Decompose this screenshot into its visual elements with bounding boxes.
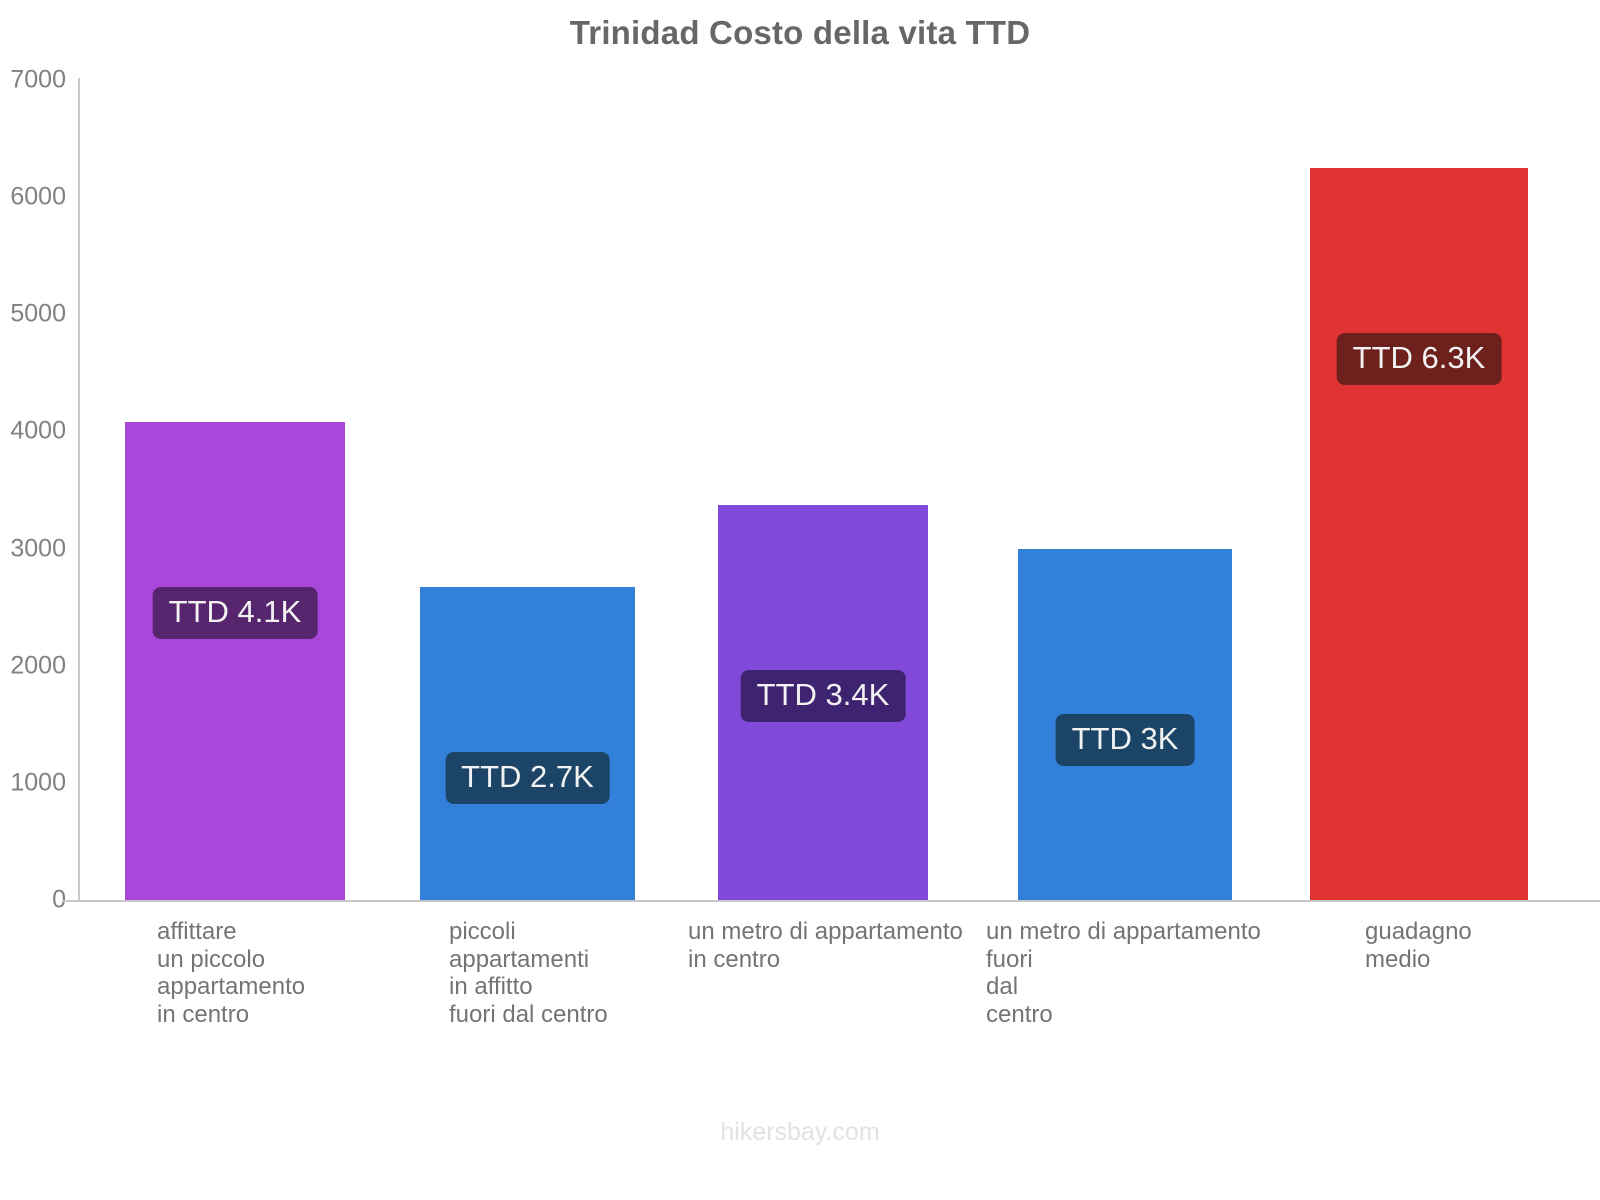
x-axis-line: [62, 900, 1600, 902]
x-axis-category-label: piccoli appartamenti in affitto fuori da…: [449, 918, 608, 1028]
bar-value-label: TTD 3K: [1056, 714, 1195, 766]
y-tick-label: 3000: [4, 534, 66, 563]
y-tick-label: 2000: [4, 651, 66, 680]
y-tick-label: 4000: [4, 417, 66, 446]
y-tick-label: 0: [4, 886, 66, 915]
y-tick-label: 1000: [4, 768, 66, 797]
bar-value-label: TTD 4.1K: [153, 587, 318, 639]
x-axis-category-label: affittare un piccolo appartamento in cen…: [157, 918, 305, 1028]
y-tick-label: 7000: [4, 66, 66, 95]
cost-of-living-bar-chart: Trinidad Costo della vita TTD 0100020003…: [0, 0, 1600, 1200]
bar-value-label: TTD 2.7K: [445, 752, 610, 804]
bar[interactable]: [125, 422, 345, 900]
y-tick-label: 5000: [4, 300, 66, 329]
bar-value-label: TTD 3.4K: [741, 670, 906, 722]
y-tick-label: 6000: [4, 183, 66, 212]
bar[interactable]: [1310, 168, 1528, 900]
bar-value-label: TTD 6.3K: [1337, 333, 1502, 385]
x-axis-category-label: guadagno medio: [1365, 918, 1472, 973]
bar[interactable]: [420, 587, 635, 900]
x-axis-category-label: un metro di appartamento fuori dal centr…: [986, 918, 1261, 1028]
chart-title: Trinidad Costo della vita TTD: [0, 14, 1600, 52]
y-axis-tick-labels: 01000200030004000500060007000: [0, 0, 66, 1200]
x-axis-category-label: un metro di appartamento in centro: [688, 918, 963, 973]
footer-watermark: hikersbay.com: [0, 1118, 1600, 1147]
